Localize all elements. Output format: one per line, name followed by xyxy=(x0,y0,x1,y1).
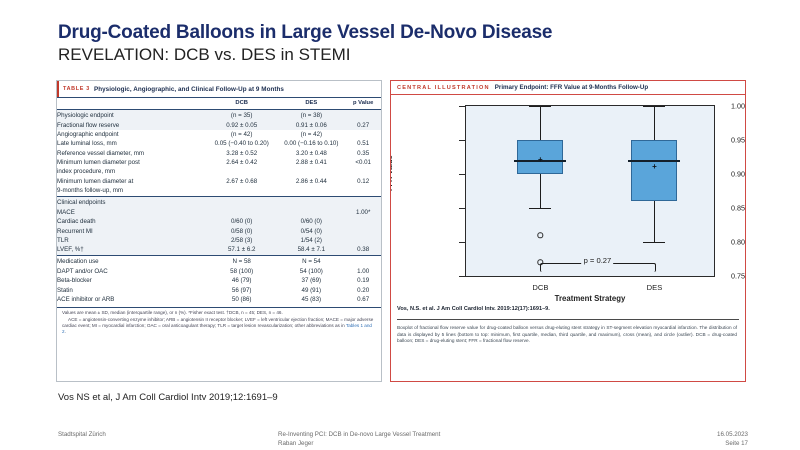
table-cell-pvalue: 0.67 xyxy=(345,295,381,304)
table-cell-pvalue xyxy=(345,109,381,121)
table-cell-pvalue xyxy=(345,187,381,197)
table-row: Medication useN = 58N = 54 xyxy=(57,255,381,267)
footer-center: Re-Inventing PCI: DCB in De-novo Large V… xyxy=(278,430,440,448)
table-title: Physiologic, Angiographic, and Clinical … xyxy=(94,86,284,93)
table-cell-dcb xyxy=(206,196,277,208)
table-cell-pvalue: 1.00* xyxy=(345,208,381,217)
table-row: Statin56 (97)49 (91)0.20 xyxy=(57,286,381,295)
table-cell-des: (n = 42) xyxy=(277,130,345,139)
table-cell-pvalue xyxy=(345,217,381,226)
table-row: Clinical endpoints xyxy=(57,196,381,208)
table-cell-dcb xyxy=(206,168,277,177)
table-cell-des: 54 (100) xyxy=(277,267,345,276)
table-cell-des: 37 (69) xyxy=(277,277,345,286)
page-title: Drug-Coated Balloons in Large Vessel De-… xyxy=(58,22,758,44)
table-row: LVEF, %†57.1 ± 6.258.4 ± 7.10.38 xyxy=(57,246,381,256)
table-cell-pvalue xyxy=(345,130,381,139)
table-cell-dcb: 0/58 (0) xyxy=(206,227,277,236)
table-cell-label: Physiologic endpoint xyxy=(57,109,206,121)
y-axis-tick-label: 1.00 xyxy=(719,102,745,111)
table-row: DAPT and/or OAC58 (100)54 (100)1.00 xyxy=(57,267,381,276)
table-number-label: TABLE 3 xyxy=(63,86,90,92)
table-cell-des: (n = 38) xyxy=(277,109,345,121)
table-cell-dcb: 3.28 ± 0.52 xyxy=(206,149,277,158)
table-row: Late luminal loss, mm0.05 (−0.40 to 0.20… xyxy=(57,140,381,149)
table-cell-des: 49 (91) xyxy=(277,286,345,295)
table-row: MACE1.00* xyxy=(57,208,381,217)
table-cell-pvalue: 0.35 xyxy=(345,149,381,158)
table-row: Recurrent MI0/58 (0)0/54 (0) xyxy=(57,227,381,236)
table-row: Angiographic endpoint(n = 42)(n = 42) xyxy=(57,130,381,139)
x-axis-tick-label: DCB xyxy=(532,283,548,292)
table-cell-label: Minimum lumen diameter post xyxy=(57,158,206,167)
table-cell-dcb: 0/60 (0) xyxy=(206,217,277,226)
column-header-dcb: DCB xyxy=(206,98,277,109)
slide-citation: Vos NS et al, J Am Coll Cardiol Intv 201… xyxy=(58,392,278,403)
table-cell-label: Angiographic endpoint xyxy=(57,130,206,139)
table-cell-pvalue: 0.12 xyxy=(345,177,381,186)
table-cell-des: 1/54 (2) xyxy=(277,236,345,245)
table-caption-bar: TABLE 3 Physiologic, Angiographic, and C… xyxy=(57,81,381,98)
whisker-upper xyxy=(540,106,541,140)
column-header-pvalue: p Value xyxy=(345,98,381,109)
table-row: Beta-blocker46 (79)37 (69)0.19 xyxy=(57,277,381,286)
table-cell-label: Minimum lumen diameter at xyxy=(57,177,206,186)
table-cell-dcb xyxy=(206,208,277,217)
table-cell-des: 2.86 ± 0.44 xyxy=(277,177,345,186)
table-cell-dcb: N = 58 xyxy=(206,255,277,267)
table-row: TLR2/58 (3)1/54 (2) xyxy=(57,236,381,245)
table-row: Minimum lumen diameter at2.67 ± 0.682.86… xyxy=(57,177,381,186)
mean-marker: + xyxy=(652,163,657,171)
table-figure: TABLE 3 Physiologic, Angiographic, and C… xyxy=(56,80,382,382)
whisker-cap-lower xyxy=(529,208,551,209)
footer-page-number: Seite 17 xyxy=(717,439,748,448)
table-cell-dcb: 46 (79) xyxy=(206,277,277,286)
table-cell-des xyxy=(277,168,345,177)
table-cell-des: 58.4 ± 7.1 xyxy=(277,246,345,256)
table-footnote-2-text: ACE = angiotensin-converting enzyme inhi… xyxy=(62,317,373,328)
table-cell-dcb: 56 (97) xyxy=(206,286,277,295)
table-cell-dcb: 2.67 ± 0.68 xyxy=(206,177,277,186)
table-cell-label: Reference vessel diameter, mm xyxy=(57,149,206,158)
table-cell-label: DAPT and/or OAC xyxy=(57,267,206,276)
table-cell-dcb: 2/58 (3) xyxy=(206,236,277,245)
table-row: index procedure, mm xyxy=(57,168,381,177)
table-cell-dcb: 58 (100) xyxy=(206,267,277,276)
table-cell-pvalue xyxy=(345,168,381,177)
table-row: ACE inhibitor or ARB50 (86)45 (83)0.67 xyxy=(57,295,381,304)
table-row: Minimum lumen diameter post2.64 ± 0.422.… xyxy=(57,158,381,167)
table-cell-label: Clinical endpoints xyxy=(57,196,206,208)
table-header-row: DCB DES p Value xyxy=(57,98,381,109)
table-cell-des xyxy=(277,187,345,197)
table-cell-des: 2.88 ± 0.41 xyxy=(277,158,345,167)
table-cell-pvalue xyxy=(345,236,381,245)
table-cell-label: Fractional flow reserve xyxy=(57,121,206,130)
figure-divider xyxy=(397,319,739,320)
column-header-blank xyxy=(57,98,206,109)
table-cell-label: Cardiac death xyxy=(57,217,206,226)
table-cell-dcb: 2.64 ± 0.42 xyxy=(206,158,277,167)
y-axis-label: FFR Value xyxy=(390,155,394,191)
x-axis-tick-label: DES xyxy=(647,283,663,292)
mean-marker: + xyxy=(538,156,543,164)
table-cell-pvalue: 0.27 xyxy=(345,121,381,130)
whisker-cap-lower xyxy=(643,242,665,243)
column-header-des: DES xyxy=(277,98,345,109)
table-cell-des: 0/54 (0) xyxy=(277,227,345,236)
table-cell-label: Statin xyxy=(57,286,206,295)
table-cell-pvalue: 0.20 xyxy=(345,286,381,295)
table-cell-des xyxy=(277,208,345,217)
x-axis-label: Treatment Strategy xyxy=(555,294,626,303)
table-footnotes: Values are mean ± SD, median (interquart… xyxy=(57,307,381,336)
p-value-annotation: p = 0.27 xyxy=(582,256,614,265)
central-illustration-figure: CENTRAL ILLUSTRATION Primary Endpoint: F… xyxy=(390,80,746,382)
table-cell-label: Beta-blocker xyxy=(57,277,206,286)
table-cell-dcb: 0.05 (−0.40 to 0.20) xyxy=(206,140,277,149)
table-row: Cardiac death0/60 (0)0/60 (0) xyxy=(57,217,381,226)
table-cell-label: MACE xyxy=(57,208,206,217)
table-cell-dcb: 0.92 ± 0.05 xyxy=(206,121,277,130)
table-cell-des: 3.20 ± 0.48 xyxy=(277,149,345,158)
table-cell-pvalue: 0.38 xyxy=(345,246,381,256)
table-cell-label: Recurrent MI xyxy=(57,227,206,236)
table-cell-dcb xyxy=(206,187,277,197)
table-cell-pvalue: 0.19 xyxy=(345,277,381,286)
table-cell-pvalue xyxy=(345,227,381,236)
table-cell-des: 0.91 ± 0.06 xyxy=(277,121,345,130)
y-axis-tick-label: 0.80 xyxy=(719,238,745,247)
table-cell-dcb: 50 (86) xyxy=(206,295,277,304)
results-table: DCB DES p Value Physiologic endpoint(n =… xyxy=(57,98,381,305)
whisker-upper xyxy=(654,106,655,140)
table-cell-label: 9-months follow-up, mm xyxy=(57,187,206,197)
whisker-cap-upper xyxy=(643,106,665,107)
table-cell-dcb: (n = 42) xyxy=(206,130,277,139)
y-axis-tick-label: 0.90 xyxy=(719,170,745,179)
y-axis-tick-label: 0.75 xyxy=(719,272,745,281)
footer-left: Stadtspital Zürich xyxy=(58,430,106,439)
page-subtitle: REVELATION: DCB vs. DES in STEMI xyxy=(58,45,758,65)
table-cell-pvalue: 0.51 xyxy=(345,140,381,149)
table-cell-pvalue xyxy=(345,255,381,267)
table-row: Reference vessel diameter, mm3.28 ± 0.52… xyxy=(57,149,381,158)
whisker-lower xyxy=(540,174,541,208)
table-cell-dcb: 57.1 ± 6.2 xyxy=(206,246,277,256)
footer-center-line1: Re-Inventing PCI: DCB in De-novo Large V… xyxy=(278,430,440,439)
y-axis-tick-label: 0.95 xyxy=(719,136,745,145)
table-cell-label: Medication use xyxy=(57,255,206,267)
footer-center-line2: Raban Jeger xyxy=(278,439,440,448)
table-row: 9-months follow-up, mm xyxy=(57,187,381,197)
table-cell-des: 0/60 (0) xyxy=(277,217,345,226)
table-cell-des xyxy=(277,196,345,208)
table-row: Fractional flow reserve0.92 ± 0.050.91 ±… xyxy=(57,121,381,130)
table-cell-des: 45 (83) xyxy=(277,295,345,304)
table-cell-pvalue xyxy=(345,196,381,208)
central-illustration-label: CENTRAL ILLUSTRATION xyxy=(397,85,490,91)
table-cell-label: TLR xyxy=(57,236,206,245)
footer-date: 16.05.2023 xyxy=(717,430,748,439)
table-cell-dcb: (n = 35) xyxy=(206,109,277,121)
table-cell-label: ACE inhibitor or ARB xyxy=(57,295,206,304)
table-cell-label: LVEF, %† xyxy=(57,246,206,256)
table-cell-des: 0.00 (−0.16 to 0.10) xyxy=(277,140,345,149)
table-cell-des: N = 54 xyxy=(277,255,345,267)
central-illustration-title: Primary Endpoint: FFR Value at 9-Months … xyxy=(495,84,648,91)
outlier-point xyxy=(538,232,543,237)
figure-source-citation: Vos, N.S. et al. J Am Coll Cardiol Intv.… xyxy=(397,306,550,312)
table-cell-label: Late luminal loss, mm xyxy=(57,140,206,149)
table-cell-label: index procedure, mm xyxy=(57,168,206,177)
table-footnote-2: ACE = angiotensin-converting enzyme inhi… xyxy=(62,317,376,336)
figure-caption: Boxplot of fractional flow reserve value… xyxy=(397,325,737,345)
central-illustration-bar: CENTRAL ILLUSTRATION Primary Endpoint: F… xyxy=(391,81,745,95)
whisker-lower xyxy=(654,201,655,242)
whisker-cap-upper xyxy=(529,106,551,107)
table-cell-pvalue: 1.00 xyxy=(345,267,381,276)
table-row: Physiologic endpoint(n = 35)(n = 38) xyxy=(57,109,381,121)
plot-area: ++ p = 0.27 xyxy=(465,105,715,277)
y-axis-tick-label: 0.85 xyxy=(719,204,745,213)
table-cell-pvalue: <0.01 xyxy=(345,158,381,167)
table-footnote-period: . xyxy=(65,329,66,334)
boxplot-chart: FFR Value 0.750.800.850.900.951.00 ++ p … xyxy=(391,95,745,308)
footer-right: 16.05.2023 Seite 17 xyxy=(717,430,748,448)
